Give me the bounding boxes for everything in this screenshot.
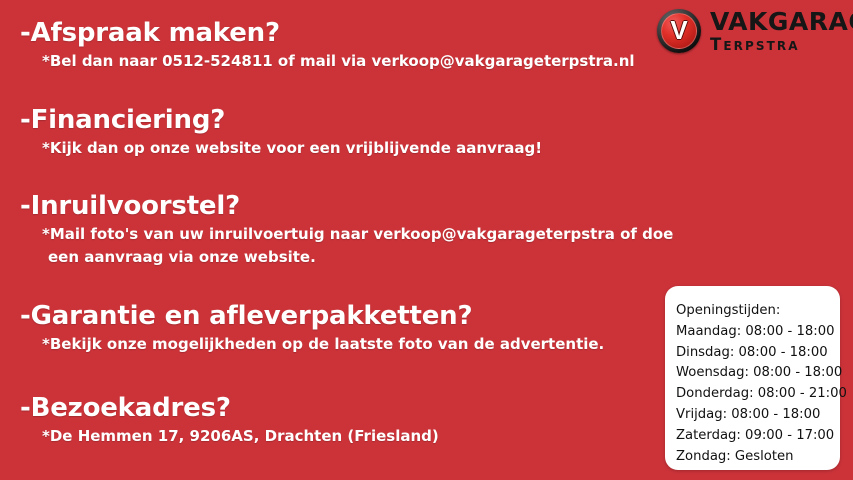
section-garantie: -Garantie en afleverpakketten? *Bekijk o… <box>0 303 660 356</box>
section-body: *Bekijk onze mogelijkheden op de laatste… <box>42 333 660 356</box>
section-body: *Mail foto's van uw inruilvoertuig naar … <box>42 223 660 268</box>
section-heading: -Financiering? <box>20 107 660 134</box>
opening-hours-card: Openingstijden: Maandag: 08:00 - 18:00 D… <box>665 286 840 470</box>
section-body-line-1: *Mail foto's van uw inruilvoertuig naar … <box>42 225 673 243</box>
brand-logo: V VAKGARAGE Terpstra <box>657 9 853 54</box>
section-body: *De Hemmen 17, 9206AS, Drachten (Friesla… <box>42 425 660 448</box>
section-financiering: -Financiering? *Kijk dan op onze website… <box>0 107 660 160</box>
vakgarage-v-badge-icon: V <box>657 9 701 53</box>
brand-wordmark: VAKGARAGE Terpstra <box>710 9 853 54</box>
section-bezoekadres: -Bezoekadres? *De Hemmen 17, 9206AS, Dra… <box>0 395 660 448</box>
opening-hours-row-friday: Vrijdag: 08:00 - 18:00 <box>676 405 840 426</box>
section-body-line-1: *Bel dan naar 0512-524811 of mail via ve… <box>42 52 635 70</box>
section-heading: -Inruilvoorstel? <box>20 193 660 220</box>
brand-name-main: VAKGARAGE <box>710 9 853 34</box>
opening-hours-row-sunday: Zondag: Gesloten <box>676 447 840 468</box>
opening-hours-row-tuesday: Dinsdag: 08:00 - 18:00 <box>676 343 840 364</box>
section-heading: -Bezoekadres? <box>20 395 660 422</box>
section-body-line-2: een aanvraag via onze website. <box>48 246 660 269</box>
badge-letter: V <box>657 9 701 53</box>
section-body: *Kijk dan op onze website voor een vrijb… <box>42 137 660 160</box>
opening-hours-row-saturday: Zaterdag: 09:00 - 17:00 <box>676 426 840 447</box>
opening-hours-row-wednesday: Woensdag: 08:00 - 18:00 <box>676 363 840 384</box>
brand-name-sub: Terpstra <box>710 37 853 54</box>
section-body: *Bel dan naar 0512-524811 of mail via ve… <box>42 50 660 73</box>
section-heading: -Afspraak maken? <box>20 20 660 47</box>
opening-hours-title: Openingstijden: <box>676 301 840 322</box>
section-afspraak: -Afspraak maken? *Bel dan naar 0512-5248… <box>0 20 660 73</box>
section-body-line-1: *Kijk dan op onze website voor een vrijb… <box>42 139 542 157</box>
opening-hours-row-thursday: Donderdag: 08:00 - 21:00 <box>676 384 840 405</box>
section-body-line-1: *Bekijk onze mogelijkheden op de laatste… <box>42 335 604 353</box>
section-heading: -Garantie en afleverpakketten? <box>20 303 660 330</box>
opening-hours-row-monday: Maandag: 08:00 - 18:00 <box>676 322 840 343</box>
advertisement-banner: V VAKGARAGE Terpstra -Afspraak maken? *B… <box>0 0 853 480</box>
section-inruilvoorstel: -Inruilvoorstel? *Mail foto's van uw inr… <box>0 193 660 268</box>
section-body-line-1: *De Hemmen 17, 9206AS, Drachten (Friesla… <box>42 427 439 445</box>
